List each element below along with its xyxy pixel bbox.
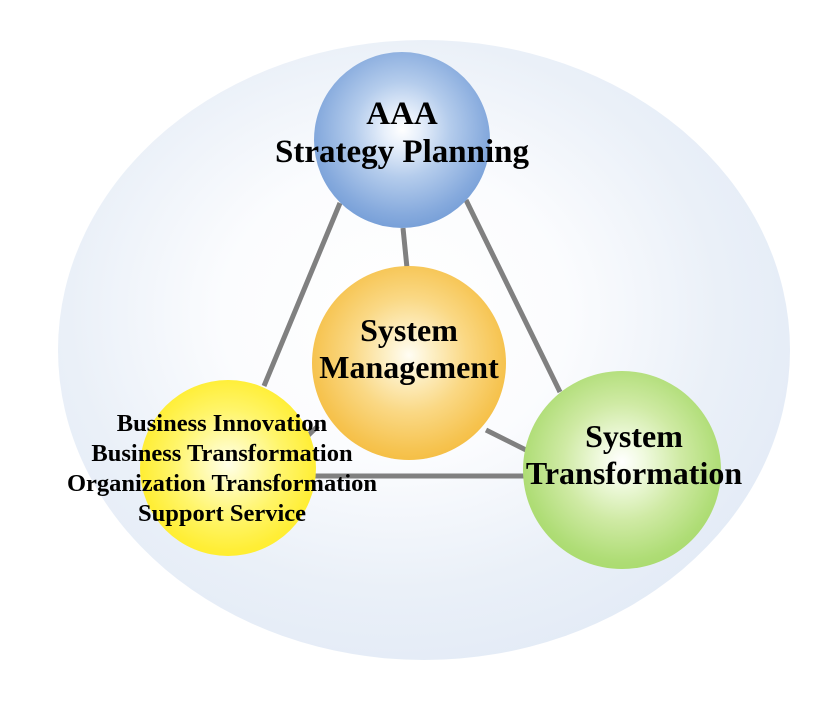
node-strategy-planning[interactable] bbox=[314, 52, 490, 228]
node-system-management[interactable] bbox=[312, 266, 506, 460]
diagram-graphics bbox=[0, 0, 834, 702]
node-business-services[interactable] bbox=[140, 380, 316, 556]
node-system-transformation[interactable] bbox=[523, 371, 721, 569]
diagram-canvas: AAA Strategy Planning System Management … bbox=[0, 0, 834, 702]
